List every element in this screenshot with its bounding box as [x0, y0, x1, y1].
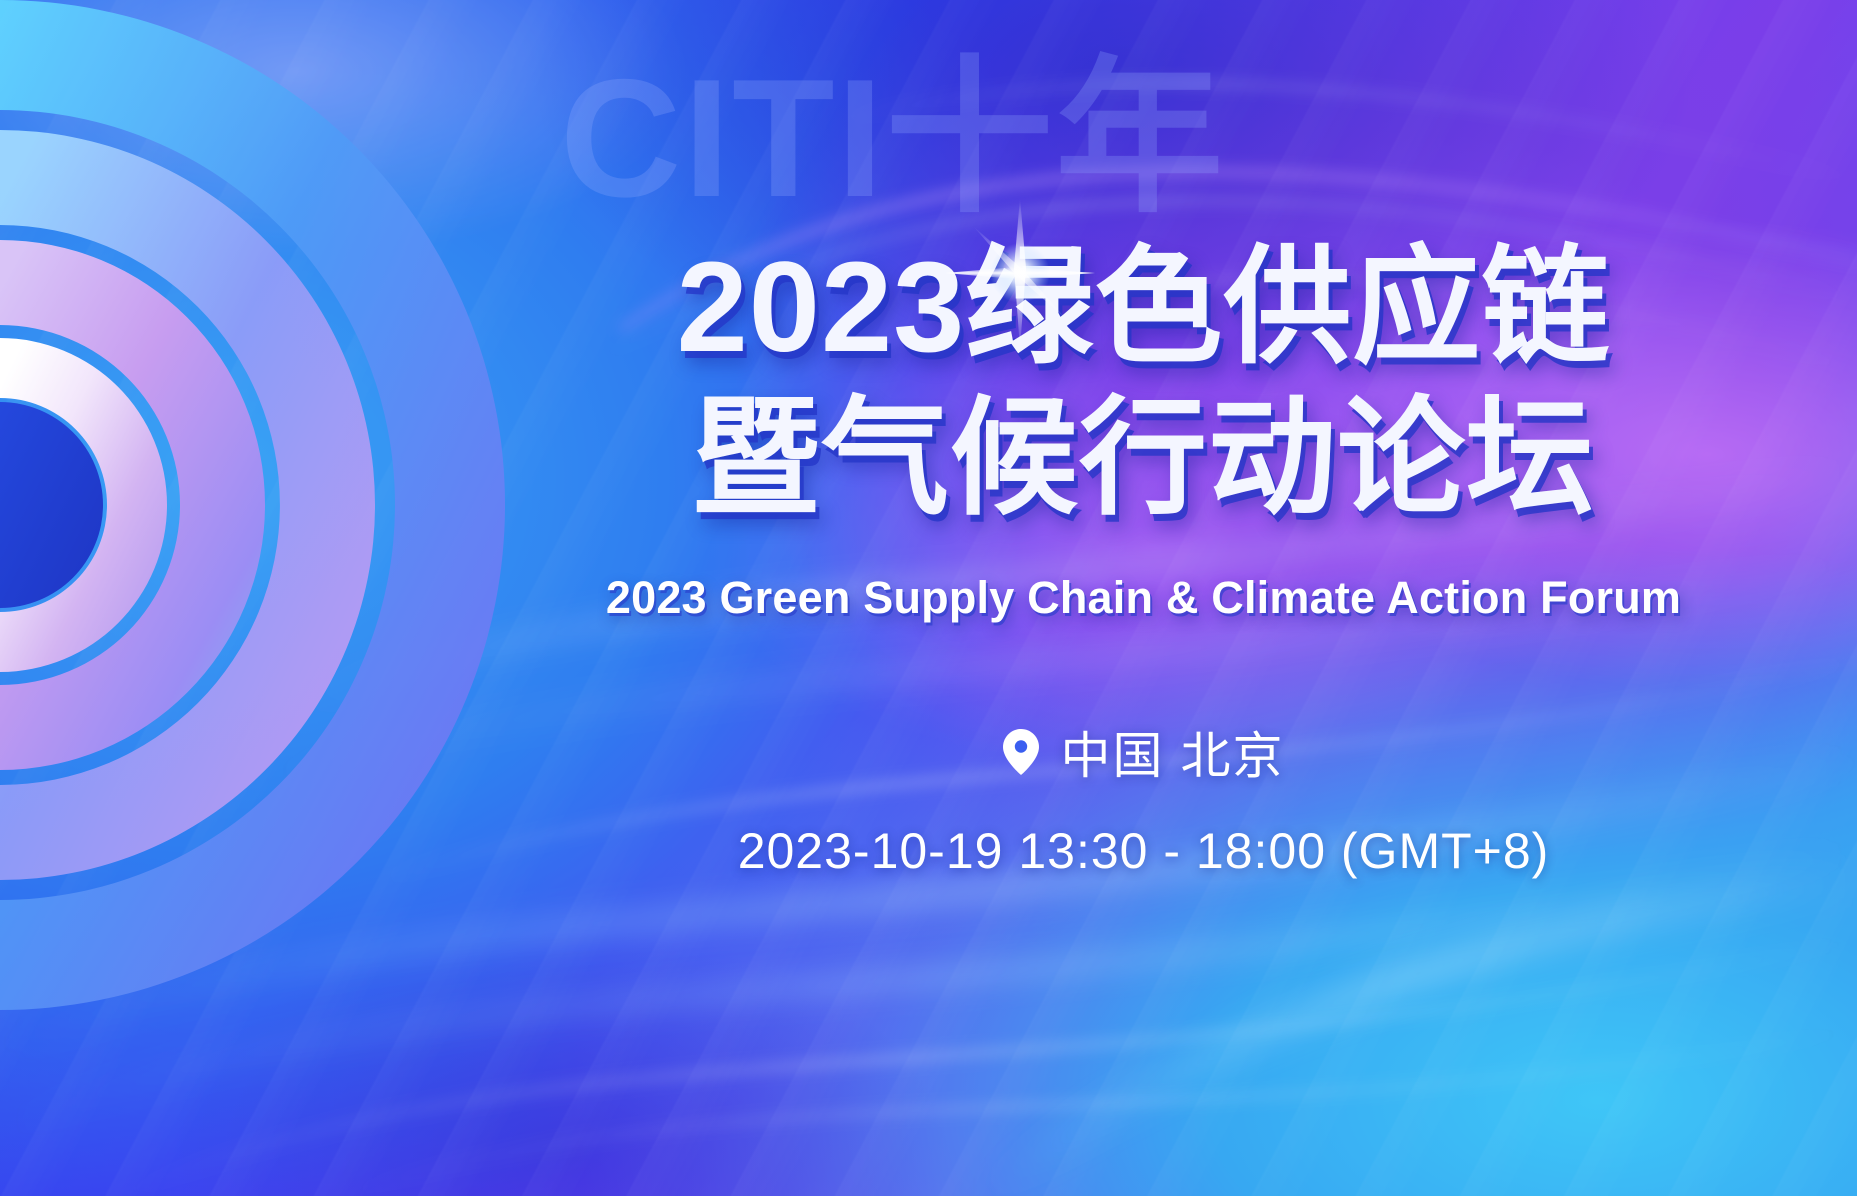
datetime-text: 2023-10-19 13:30 - 18:00 (GMT+8)	[738, 822, 1550, 880]
event-banner: CITI十年	[0, 0, 1857, 1196]
location-text: 中国 北京	[1061, 716, 1285, 788]
banner-content: 2023绿色供应链 暨气候行动论坛 2023 Green Supply Chai…	[430, 0, 1857, 1196]
title-line-1: 2023绿色供应链	[677, 232, 1611, 383]
title-block: 2023绿色供应链 暨气候行动论坛	[677, 232, 1611, 534]
location-pin-icon	[1003, 729, 1039, 775]
english-subtitle: 2023 Green Supply Chain & Climate Action…	[606, 572, 1681, 624]
location-row: 中国 北京	[1003, 716, 1285, 788]
title-line-2: 暨气候行动论坛	[677, 383, 1611, 534]
